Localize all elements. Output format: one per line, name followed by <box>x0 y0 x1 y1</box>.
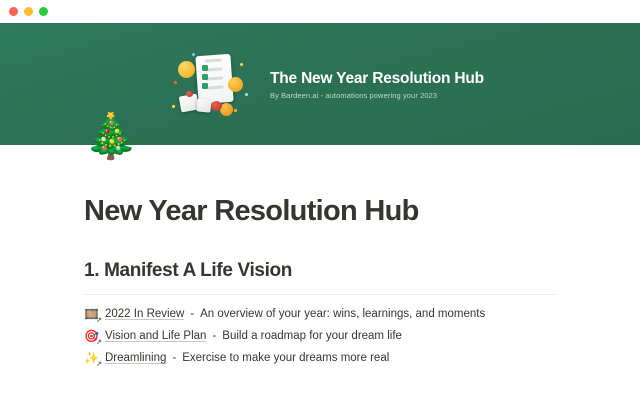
close-button[interactable] <box>9 7 18 16</box>
page-link-arrow-icon: ↗ <box>96 361 102 368</box>
page-link-dreamlining[interactable]: Dreamlining <box>105 347 166 369</box>
window-titlebar <box>0 0 640 23</box>
dart-target-icon: 🎯 ↗ <box>84 329 99 344</box>
film-frames-icon: 🎞️ ↗ <box>84 307 99 322</box>
minimize-button[interactable] <box>24 7 33 16</box>
page-title[interactable]: New Year Resolution Hub <box>84 195 556 228</box>
gift-box-icon <box>196 98 211 112</box>
list-item-separator: - <box>212 325 216 347</box>
confetti-icon <box>172 105 176 109</box>
checkmark-icon <box>202 65 208 71</box>
confetti-icon <box>245 93 248 96</box>
list-item-description: An overview of your year: wins, learning… <box>200 303 485 325</box>
confetti-icon <box>174 81 178 85</box>
section-heading-1[interactable]: 1. Manifest A Life Vision <box>84 260 556 283</box>
list-item-description: Exercise to make your dreams more real <box>182 347 389 369</box>
list-item-separator: - <box>172 347 176 369</box>
app-window: The New Year Resolution Hub By Bardeen.a… <box>0 0 640 400</box>
resolution-link-list: 🎞️ ↗ 2022 In Review - An overview of you… <box>84 303 556 369</box>
confetti-icon <box>239 62 243 66</box>
list-item[interactable]: 🎞️ ↗ 2022 In Review - An overview of you… <box>84 303 556 325</box>
page-link-2022-in-review[interactable]: 2022 In Review <box>105 303 184 325</box>
list-item[interactable]: 🎯 ↗ Vision and Life Plan - Build a roadm… <box>84 325 556 347</box>
confetti-icon <box>191 52 195 56</box>
maximize-button[interactable] <box>39 7 48 16</box>
cover-subtitle: By Bardeen.ai - automations powering you… <box>270 91 484 100</box>
page-body: New Year Resolution Hub 1. Manifest A Li… <box>0 145 640 369</box>
section-divider <box>84 294 556 295</box>
emoji-face-icon <box>228 77 243 92</box>
list-item-separator: - <box>190 303 194 325</box>
emoji-face-icon <box>178 61 195 78</box>
sparkles-icon: ✨ ↗ <box>84 351 99 366</box>
confetti-icon <box>234 109 237 112</box>
gift-bow-icon <box>186 91 193 97</box>
cover-content: The New Year Resolution Hub By Bardeen.a… <box>170 47 470 121</box>
checklist-gifts-confetti-illustration <box>170 47 256 121</box>
page-link-vision-and-life-plan[interactable]: Vision and Life Plan <box>105 325 206 347</box>
page-link-arrow-icon: ↗ <box>96 339 102 346</box>
checkmark-icon <box>202 74 208 80</box>
page-link-arrow-icon: ↗ <box>96 317 102 324</box>
checkmark-icon <box>202 83 208 89</box>
list-item-description: Build a roadmap for your dream life <box>222 325 402 347</box>
cover-text-block: The New Year Resolution Hub By Bardeen.a… <box>270 68 484 100</box>
gift-bow-icon <box>211 101 222 111</box>
cover-title: The New Year Resolution Hub <box>270 70 484 87</box>
traffic-light-group <box>9 7 48 16</box>
list-item[interactable]: ✨ ↗ Dreamlining - Exercise to make your … <box>84 347 556 369</box>
